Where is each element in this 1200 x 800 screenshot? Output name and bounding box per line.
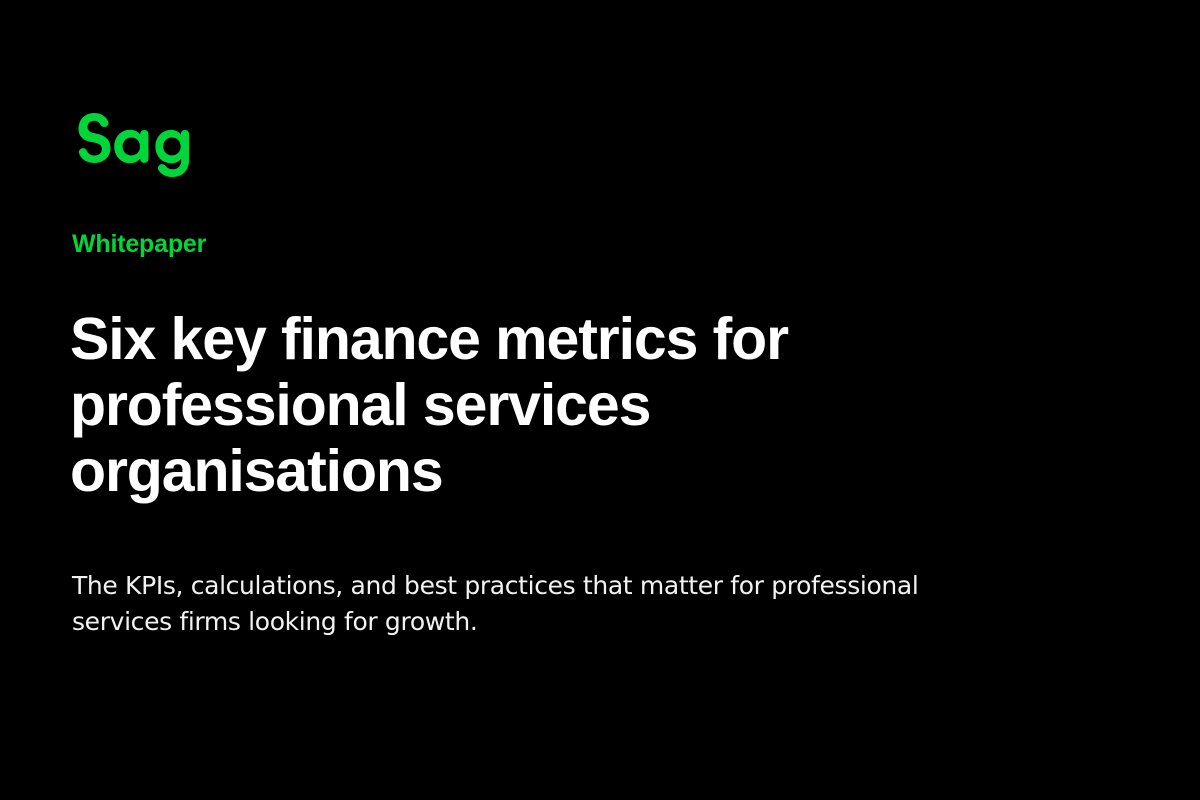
document-type-label: Whitepaper xyxy=(72,232,206,257)
sage-logo[interactable] xyxy=(72,110,202,186)
whitepaper-cover: Whitepaper Six key finance metrics for p… xyxy=(0,0,1200,800)
page-title: Six key finance metrics for professional… xyxy=(70,306,1030,504)
page-title-line-1: Six key finance metrics for xyxy=(70,306,1030,372)
sage-logo-icon xyxy=(72,110,202,186)
page-title-line-2: professional services xyxy=(70,372,1030,438)
page-subtitle-line-2: services firms looking for growth. xyxy=(72,604,1082,640)
page-title-line-3: organisations xyxy=(70,438,1030,504)
page-subtitle-line-1: The KPIs, calculations, and best practic… xyxy=(72,568,1082,604)
page-subtitle: The KPIs, calculations, and best practic… xyxy=(72,568,1082,640)
